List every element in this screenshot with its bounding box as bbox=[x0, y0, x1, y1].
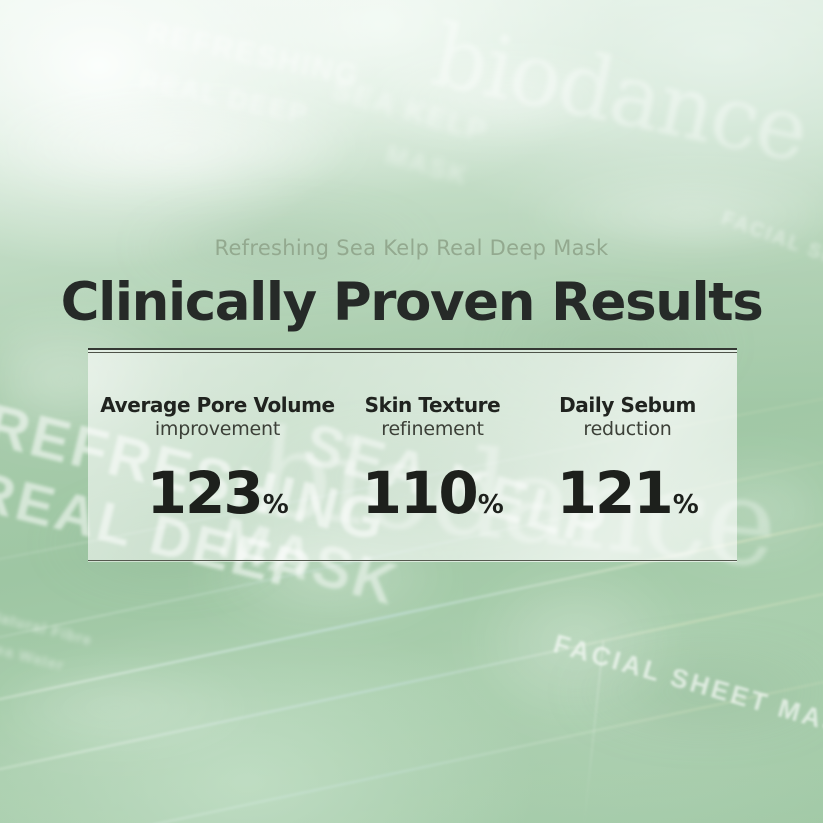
product-name-eyebrow: Refreshing Sea Kelp Real Deep Mask bbox=[0, 236, 823, 260]
stat-subtitle: refinement bbox=[338, 418, 528, 442]
stat-value: 121% bbox=[528, 464, 728, 522]
stat-daily-sebum: Daily Sebum reduction 121% bbox=[528, 348, 728, 522]
stat-average-pore-volume: Average Pore Volume improvement 123% bbox=[98, 348, 338, 522]
stat-unit: % bbox=[478, 490, 504, 520]
product-results-graphic: biodance REFRESHING REAL DEEP SEA KELP M… bbox=[0, 0, 823, 823]
content-layer: Refreshing Sea Kelp Real Deep Mask Clini… bbox=[0, 0, 823, 823]
stat-unit: % bbox=[673, 490, 699, 520]
stat-unit: % bbox=[263, 490, 289, 520]
stat-value: 123% bbox=[98, 464, 338, 522]
stat-title: Daily Sebum bbox=[528, 394, 728, 416]
stat-value: 110% bbox=[338, 464, 528, 522]
stat-number: 123 bbox=[147, 459, 262, 527]
stat-number: 110 bbox=[362, 459, 477, 527]
stat-subtitle: reduction bbox=[528, 418, 728, 442]
results-stats-row: Average Pore Volume improvement 123% Ski… bbox=[88, 348, 737, 562]
stat-title: Skin Texture bbox=[338, 394, 528, 416]
stat-skin-texture: Skin Texture refinement 110% bbox=[338, 348, 528, 522]
stat-subtitle: improvement bbox=[98, 418, 338, 442]
stat-number: 121 bbox=[557, 459, 672, 527]
stat-title: Average Pore Volume bbox=[98, 394, 338, 416]
page-title: Clinically Proven Results bbox=[0, 272, 823, 333]
